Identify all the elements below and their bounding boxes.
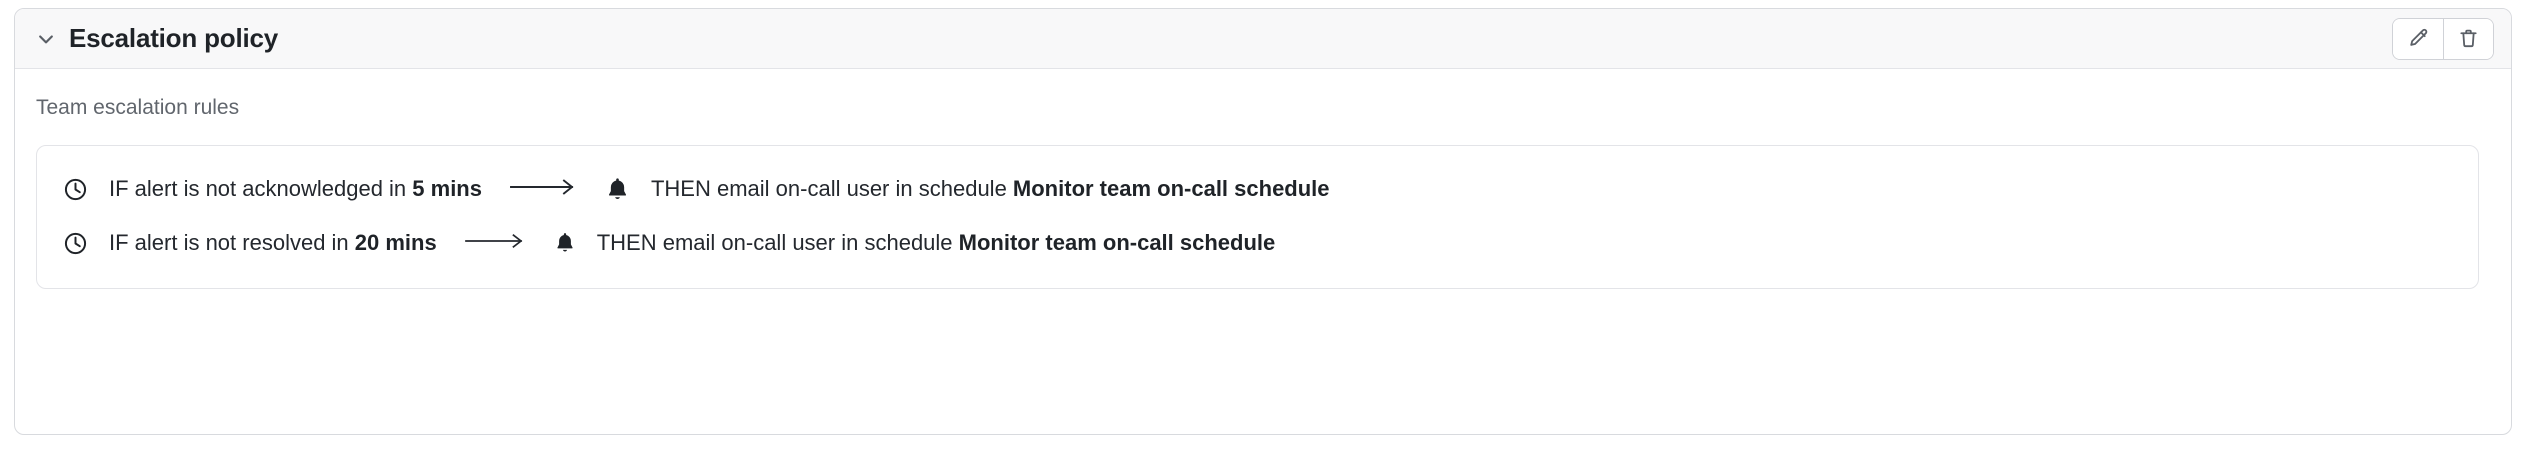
section-subtitle: Team escalation rules	[15, 69, 2511, 120]
bell-icon	[553, 231, 577, 255]
clock-icon	[63, 177, 88, 202]
escalation-rule-row: IF alert is not acknowledged in 5 mins T…	[37, 162, 2478, 216]
rule-action: THEN email on-call user in schedule Moni…	[597, 230, 1276, 256]
rule-action-prefix: THEN email on-call user in schedule	[597, 230, 959, 255]
escalation-policy-card: Escalation policy	[14, 8, 2512, 435]
card-header: Escalation policy	[15, 9, 2511, 69]
pencil-icon	[2407, 27, 2430, 50]
header-action-group	[2392, 18, 2494, 60]
bell-icon	[604, 176, 631, 203]
rule-condition-value: 5 mins	[412, 176, 482, 201]
escalation-rules-list: IF alert is not acknowledged in 5 mins T…	[36, 145, 2479, 289]
rule-condition: IF alert is not acknowledged in 5 mins	[109, 176, 482, 202]
card-body: Team escalation rules IF alert is not ac…	[15, 69, 2511, 289]
trash-icon	[2457, 27, 2480, 50]
rule-action-value: Monitor team on-call schedule	[1013, 176, 1330, 201]
escalation-rule-row: IF alert is not resolved in 20 mins THEN…	[37, 216, 2478, 270]
rule-condition-value: 20 mins	[355, 230, 437, 255]
rule-condition: IF alert is not resolved in 20 mins	[109, 230, 437, 256]
arrow-right-icon	[465, 231, 527, 256]
rule-condition-prefix: IF alert is not acknowledged in	[109, 176, 412, 201]
rule-action-prefix: THEN email on-call user in schedule	[651, 176, 1013, 201]
delete-button[interactable]	[2443, 19, 2493, 59]
rule-action-value: Monitor team on-call schedule	[959, 230, 1276, 255]
panel-header-toggle[interactable]: Escalation policy	[15, 23, 278, 54]
arrow-right-icon	[510, 177, 578, 202]
rule-condition-prefix: IF alert is not resolved in	[109, 230, 355, 255]
rule-action: THEN email on-call user in schedule Moni…	[651, 176, 1330, 202]
clock-icon	[63, 231, 88, 256]
chevron-down-icon[interactable]	[36, 29, 56, 49]
page-title: Escalation policy	[69, 23, 278, 54]
edit-button[interactable]	[2393, 19, 2443, 59]
